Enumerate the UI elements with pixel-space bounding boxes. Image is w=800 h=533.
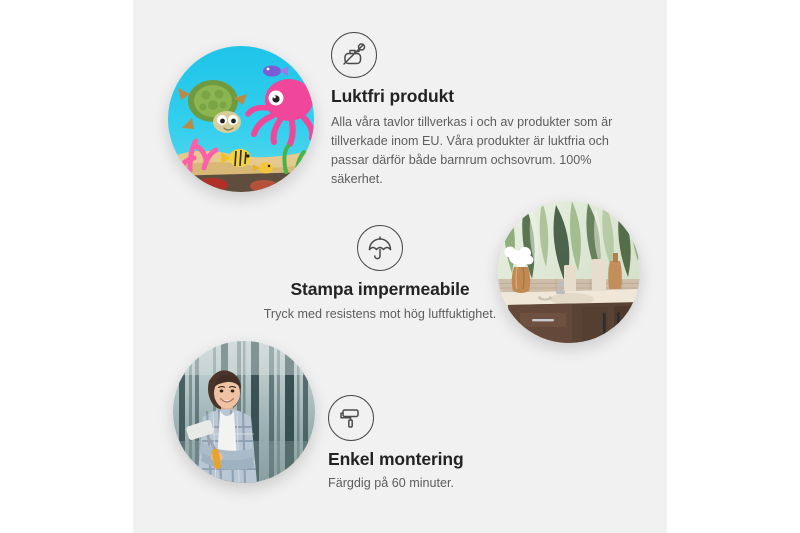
underwater-scene-illustration bbox=[168, 46, 314, 192]
feature-easy-mounting: Enkel montering Färgdig på 60 minuter. bbox=[328, 395, 618, 493]
photo-underwater-scene bbox=[168, 46, 314, 192]
feature-title: Stampa impermeabile bbox=[215, 279, 545, 300]
feature-waterproof: Stampa impermeabile Tryck med resistens … bbox=[215, 225, 545, 324]
umbrella-icon bbox=[357, 225, 403, 271]
feature-body: Alla våra tavlor tillverkas i och av pro… bbox=[331, 113, 623, 190]
feature-body: Färgdig på 60 minuter. bbox=[328, 474, 618, 493]
feature-odourless: Luktfri produkt Alla våra tavlor tillver… bbox=[331, 32, 631, 190]
woman-paint-roller-illustration bbox=[173, 341, 315, 483]
feature-body: Tryck med resistens mot hög luftfuktighe… bbox=[215, 305, 545, 324]
paint-roller-icon bbox=[328, 395, 374, 441]
no-fragrance-icon bbox=[331, 32, 377, 78]
feature-title: Luktfri produkt bbox=[331, 86, 631, 107]
photo-woman-paint-roller bbox=[173, 341, 315, 483]
feature-title: Enkel montering bbox=[328, 449, 618, 470]
content-panel: Luktfri produkt Alla våra tavlor tillver… bbox=[133, 0, 667, 533]
feature-banner: Luktfri produkt Alla våra tavlor tillver… bbox=[0, 0, 800, 533]
